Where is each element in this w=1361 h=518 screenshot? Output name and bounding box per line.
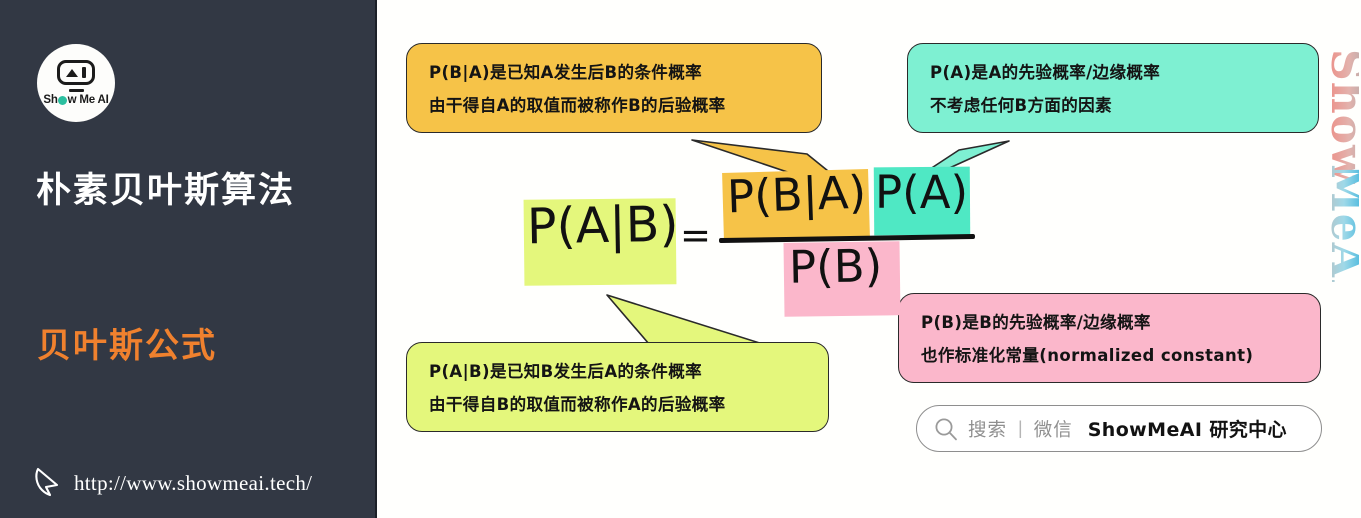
callout-line: 不考虑任何B方面的因素 [930,93,1296,119]
caret-up-icon [66,69,78,77]
formula-equals-sign: = [680,214,711,257]
search-divider: | [1018,418,1023,439]
bar-glyph [82,67,85,78]
callout-line: P(A)是A的先验概率/边缘概率 [930,60,1296,86]
callout-p-b-given-a: P(B|A)是已知A发生后B的条件概率 由干得自A的取值而被称作B的后验概率 [406,43,822,133]
page-subtitle: 贝叶斯公式 [37,318,217,367]
callout-line: 也作标准化常量(normalized constant) [921,343,1298,369]
callout-line: P(B|A)是已知A发生后B的条件概率 [429,60,799,86]
formula-term-p-a: P(A) [875,166,968,219]
svg-text:MeAI: MeAI [1321,164,1359,282]
search-label[interactable]: 搜索 [968,416,1007,442]
callout-p-a: P(A)是A的先验概率/边缘概率 不考虑任何B方面的因素 [907,43,1319,133]
slide-canvas: Shw Me AI 朴素贝叶斯算法 贝叶斯公式 http://www.showm… [0,0,1361,518]
show-me-ai-robot-logo: Shw Me AI [37,44,115,122]
logo-text: Shw Me AI [43,94,108,106]
robot-head-icon [57,60,95,85]
search-account-name[interactable]: ShowMeAI 研究中心 [1088,415,1287,442]
page-title: 朴素贝叶斯算法 [36,162,295,213]
callout-p-a-given-b: P(A|B)是已知B发生后A的条件概率 由干得自B的取值而被称作A的后验概率 [406,342,829,432]
sidebar-footer: http://www.showmeai.tech/ [34,466,312,500]
formula-term-p-b-given-a: P(B|A) [726,166,867,224]
callout-line: 由干得自B的取值而被称作A的后验概率 [429,392,806,418]
callout-line: 由干得自A的取值而被称作B的后验概率 [429,93,799,119]
callout-line: P(A|B)是已知B发生后A的条件概率 [429,359,806,385]
formula-term-p-b: P(B) [789,239,883,294]
bayes-formula: P(A|B) = P(B|A) P(A) P(B) [523,166,1003,316]
wechat-search-bar[interactable]: 搜索 | 微信 ShowMeAI 研究中心 [916,405,1322,452]
brand-logo[interactable]: Shw Me AI [37,44,115,122]
svg-text:Show: Show [1321,49,1359,184]
formula-term-p-a-given-b: P(A|B) [527,196,679,256]
globe-icon [58,96,67,105]
search-icon[interactable] [933,416,959,442]
website-url[interactable]: http://www.showmeai.tech/ [74,471,312,496]
mouse-cursor-icon [34,466,64,500]
robot-neck-icon [69,89,84,92]
search-channel[interactable]: 微信 [1034,416,1073,442]
content-area: Show MeAI P(B|A)是已知A发生后B的条件概率 由干得自A的取值而被… [377,0,1361,518]
sidebar: Shw Me AI 朴素贝叶斯算法 贝叶斯公式 http://www.showm… [0,0,377,518]
